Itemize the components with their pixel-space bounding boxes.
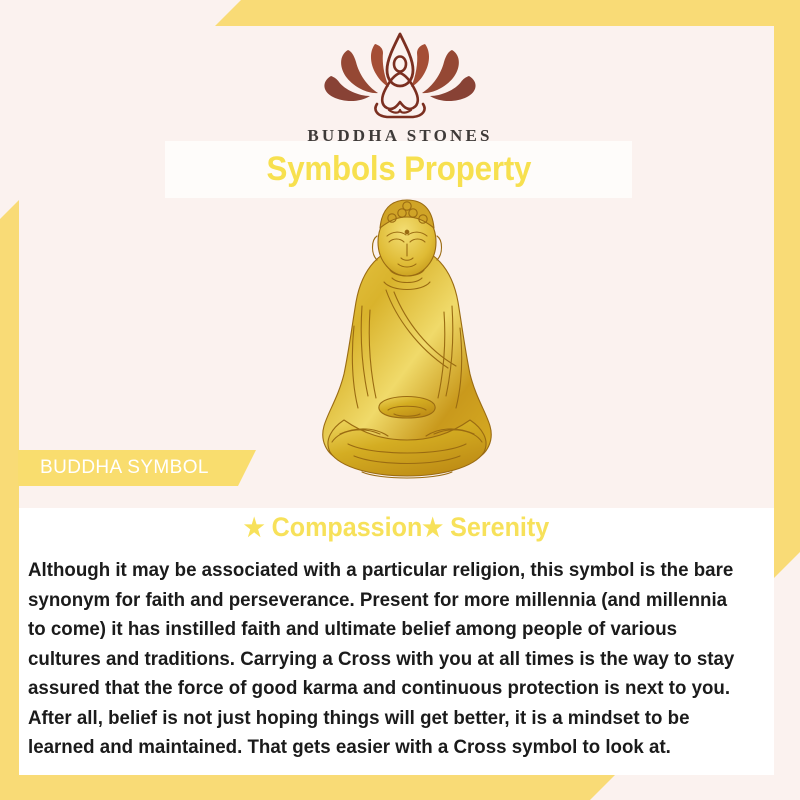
decorative-left-bar [0,200,19,800]
decorative-top-bar [215,0,800,26]
page-title: Symbols Property [266,150,531,189]
lotus-meditation-icon [315,30,485,122]
golden-seated-buddha-statue [318,198,496,500]
description-paragraph: Although it may be associated with a par… [28,556,740,763]
infographic-page: BUDDHA STONES Symbols Property [0,0,800,800]
title-band: Symbols Property [165,141,632,198]
star-icon: ★ [422,514,443,542]
brand-header: BUDDHA STONES [0,30,800,146]
ribbon-label: BUDDHA SYMBOL [40,457,209,479]
star-icon: ★ [244,514,265,542]
decorative-bottom-bar [0,775,615,800]
buddha-symbol-ribbon: BUDDHA SYMBOL [18,450,256,486]
attributes-headline: ★ Compassion★ Serenity [45,512,747,543]
attribute-serenity: Serenity [450,512,549,542]
attribute-compassion: Compassion [272,512,423,542]
